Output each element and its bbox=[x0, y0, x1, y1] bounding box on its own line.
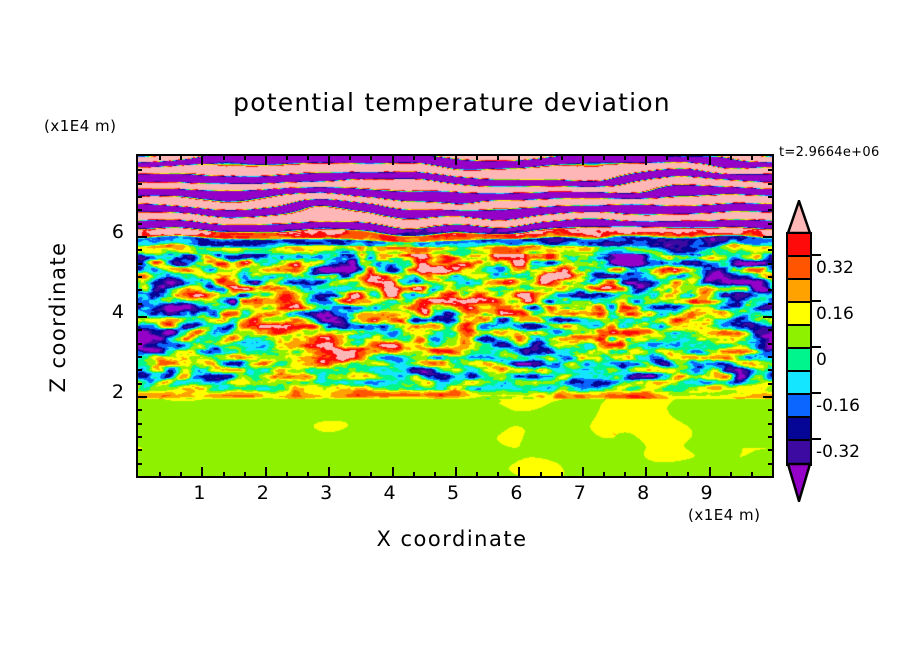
colorbar-band bbox=[788, 372, 810, 395]
y-axis-title: Z coordinate bbox=[46, 197, 70, 437]
x-tick-label: 4 bbox=[370, 482, 410, 504]
colorbar-label: 0 bbox=[816, 350, 827, 370]
x-axis-unit-label: (x1E4 m) bbox=[688, 506, 761, 524]
colorbar-band bbox=[788, 441, 810, 464]
colorbar-band bbox=[788, 326, 810, 349]
colorbar-under-arrow bbox=[786, 462, 812, 502]
y-tick-label: 2 bbox=[90, 381, 124, 403]
colorbar-tick bbox=[812, 438, 821, 440]
x-tick-label: 8 bbox=[623, 482, 663, 504]
colorbar-band bbox=[788, 280, 810, 303]
colorbar-label: -0.32 bbox=[816, 442, 860, 462]
colorbar-band bbox=[788, 234, 810, 257]
y-axis-unit-label: (x1E4 m) bbox=[44, 117, 117, 135]
x-tick-label: 3 bbox=[306, 482, 346, 504]
colorbar-band bbox=[788, 257, 810, 280]
contour-plot-area bbox=[136, 154, 774, 478]
x-tick-label: 7 bbox=[560, 482, 600, 504]
x-tick-label: 9 bbox=[687, 482, 727, 504]
colorbar-label: -0.16 bbox=[816, 396, 860, 416]
x-tick-label: 6 bbox=[496, 482, 536, 504]
colorbar-band bbox=[788, 395, 810, 418]
colorbar-tick bbox=[812, 346, 821, 348]
colorbar-band bbox=[788, 303, 810, 326]
colorbar bbox=[786, 232, 812, 466]
timestamp-annotation: t=2.9664e+06 bbox=[779, 145, 880, 160]
x-axis-title: X coordinate bbox=[0, 527, 904, 551]
page-title: potential temperature deviation bbox=[0, 88, 904, 117]
y-tick-label: 6 bbox=[90, 221, 124, 243]
colorbar-band bbox=[788, 349, 810, 372]
colorbar-over-arrow bbox=[786, 200, 812, 234]
colorbar-band bbox=[788, 418, 810, 441]
x-tick-label: 1 bbox=[179, 482, 219, 504]
colorbar-tick bbox=[812, 392, 821, 394]
colorbar-tick bbox=[812, 300, 821, 302]
x-tick-label: 2 bbox=[243, 482, 283, 504]
contour-field-canvas bbox=[138, 156, 772, 476]
x-tick-label: 5 bbox=[433, 482, 473, 504]
colorbar-tick bbox=[812, 254, 821, 256]
colorbar-label: 0.16 bbox=[816, 304, 854, 324]
y-tick-label: 4 bbox=[90, 301, 124, 323]
colorbar-label: 0.32 bbox=[816, 258, 854, 278]
